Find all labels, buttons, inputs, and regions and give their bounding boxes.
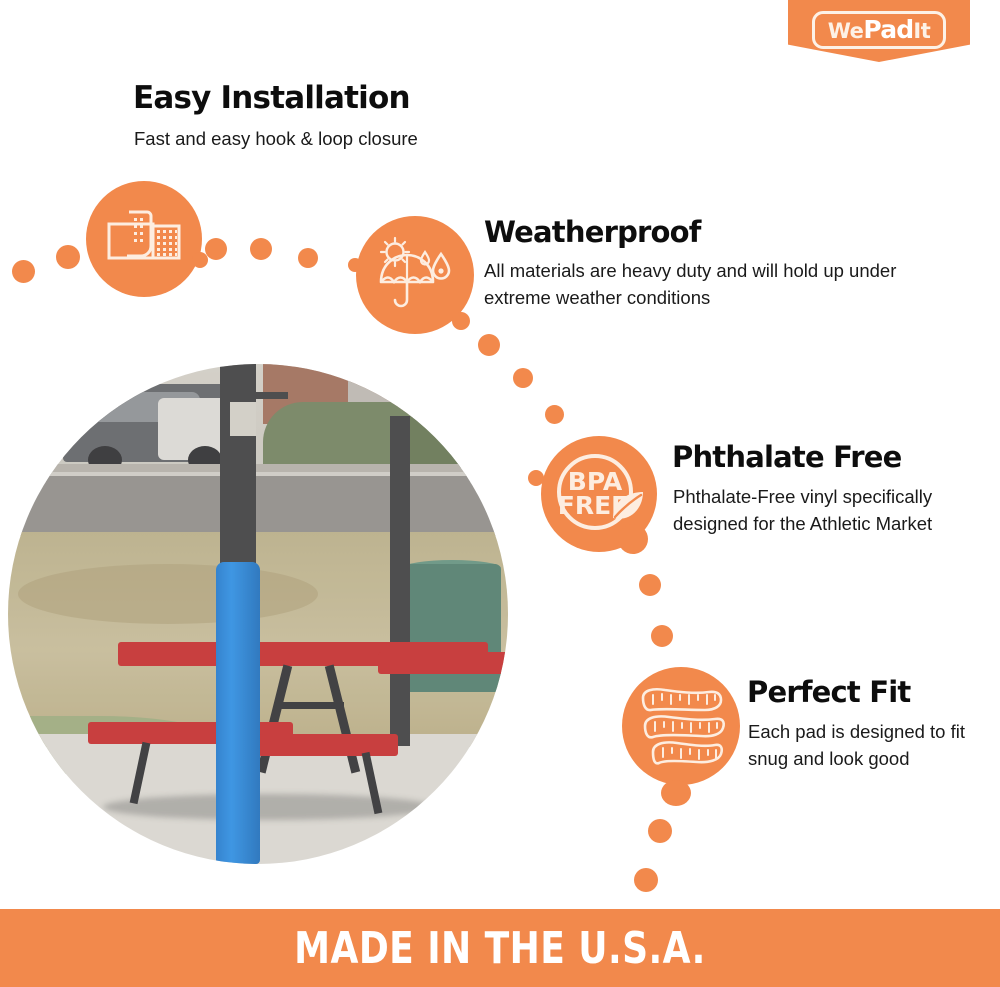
feature-desc-easy-installation: Fast and easy hook & loop closure [134,126,554,152]
trail-dot [250,238,272,260]
feature-title-easy-installation: Easy Installation [133,80,410,116]
wepadit-logo-badge[interactable]: We Pad It [788,0,970,62]
icon-blob-tape-bottom [661,780,691,806]
trail-dot [634,868,658,892]
velcro-strap-icon [86,181,202,297]
icon-blob-bpa-bottom [618,524,648,554]
logo-outline-box: We Pad It [812,11,947,49]
logo-text-we: We [828,21,864,42]
trail-dot [56,245,80,269]
measuring-tape-icon [622,667,740,785]
trail-dot [648,819,672,843]
feature-desc-phthalate-free: Phthalate-Free vinyl specifically design… [673,483,943,537]
logo-text-it: It [913,21,930,42]
made-in-usa-text: MADE IN THE U.S.A. [294,923,706,974]
trail-dot [545,405,564,424]
feature-title-perfect-fit: Perfect Fit [747,675,910,709]
feature-title-phthalate-free: Phthalate Free [672,440,902,474]
feature-desc-perfect-fit: Each pad is designed to fit snug and loo… [748,718,978,772]
photo-scene [8,364,508,864]
trail-dot [651,625,673,647]
feature-title-weatherproof: Weatherproof [484,215,701,249]
trail-dot [298,248,318,268]
product-photo-blue-pole-pad [8,364,508,864]
trail-dot [513,368,533,388]
made-in-usa-banner: MADE IN THE U.S.A. [0,909,1000,987]
trail-dot [12,260,35,283]
icon-blob-weather-right [452,312,470,330]
feature-desc-weatherproof: All materials are heavy duty and will ho… [484,257,914,311]
icon-blob-weather-left [348,258,362,272]
product-feature-infographic: We Pad It Easy Installation Fast and eas… [0,0,1000,987]
icon-blob-bpa-top [528,470,544,486]
trail-dot [639,574,661,596]
logo-text-pad: Pad [863,17,913,42]
trail-dot [205,238,227,260]
trail-dot [478,334,500,356]
